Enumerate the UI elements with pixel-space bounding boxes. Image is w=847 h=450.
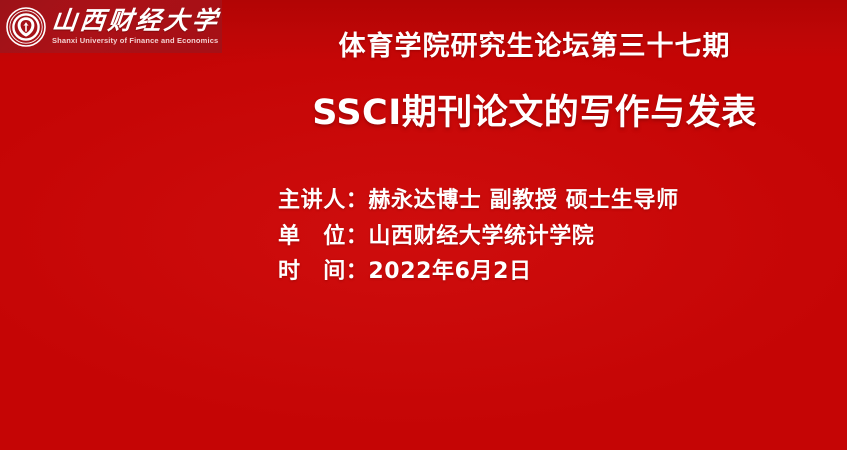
forum-series-subtitle: 体育学院研究生论坛第三十七期 bbox=[222, 30, 847, 64]
university-name-block: 山西财经大学 Shanxi University of Finance and … bbox=[52, 8, 220, 45]
date-line: 时 间：2022年6月2日 bbox=[278, 254, 679, 290]
university-logo-lockup: 山西财经大学 Shanxi University of Finance and … bbox=[0, 0, 222, 53]
slide-heading-group: 体育学院研究生论坛第三十七期 SSCI期刊论文的写作与发表 bbox=[222, 30, 847, 134]
presentation-title-slide: 山西财经大学 Shanxi University of Finance and … bbox=[0, 0, 847, 450]
event-details-block: 主讲人：赫永达博士 副教授 硕士生导师 单 位：山西财经大学统计学院 时 间：2… bbox=[278, 183, 679, 290]
university-seal-icon bbox=[6, 7, 46, 47]
affiliation-line: 单 位：山西财经大学统计学院 bbox=[278, 219, 679, 255]
university-name-en: Shanxi University of Finance and Economi… bbox=[52, 37, 220, 45]
speaker-line: 主讲人：赫永达博士 副教授 硕士生导师 bbox=[278, 183, 679, 219]
page-title: SSCI期刊论文的写作与发表 bbox=[222, 92, 847, 134]
university-name-cn: 山西财经大学 bbox=[51, 8, 222, 33]
